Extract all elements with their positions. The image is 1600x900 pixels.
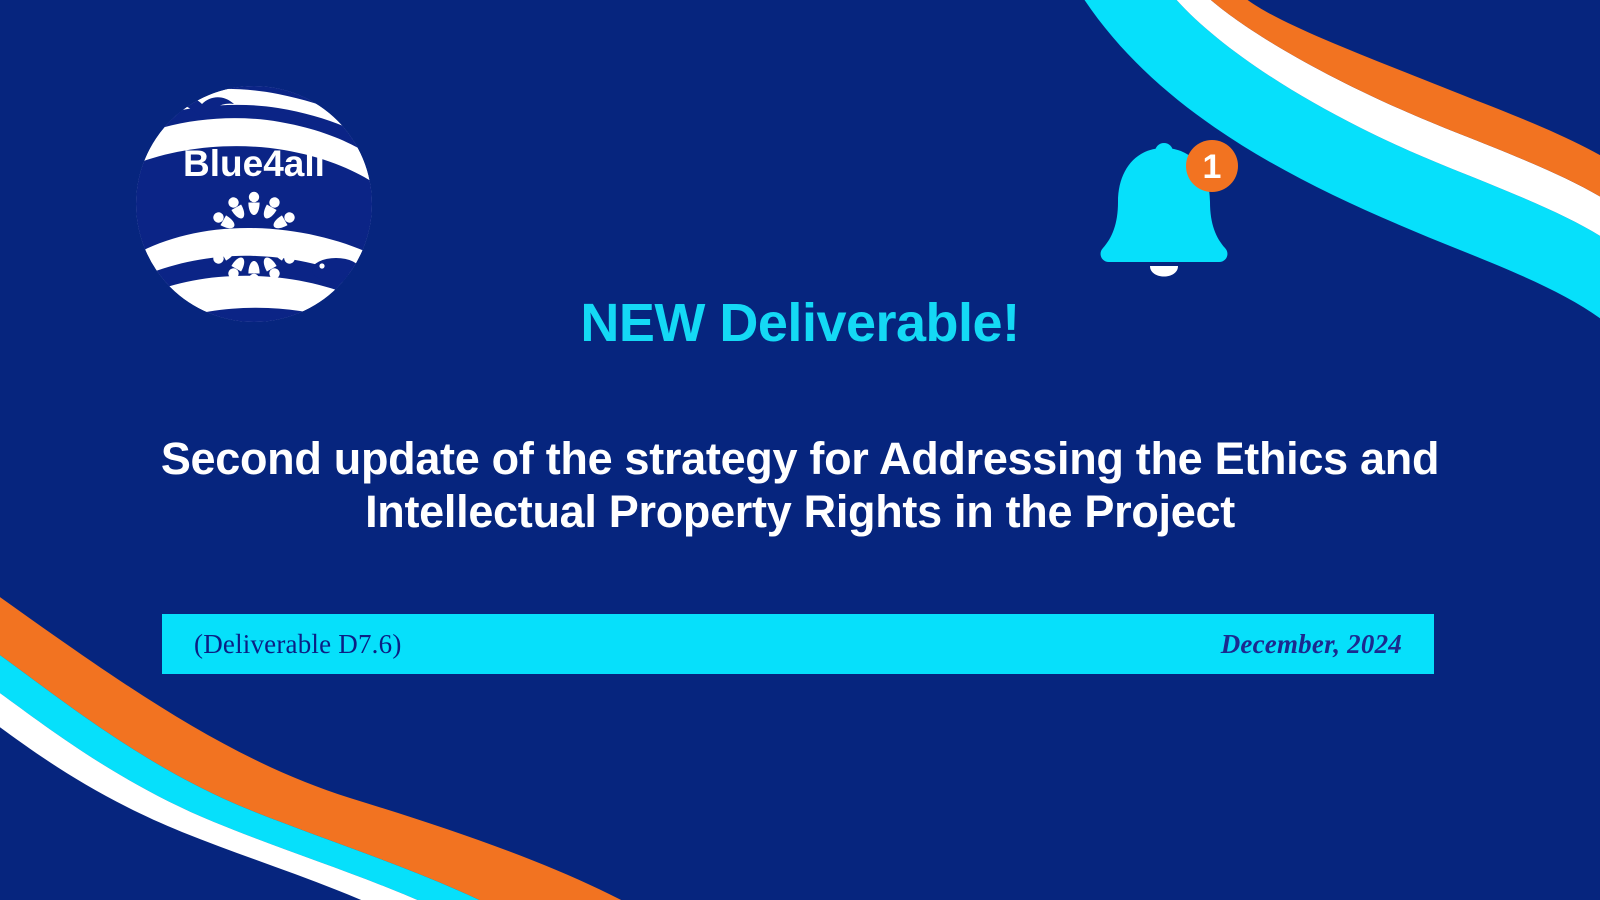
deliverable-code-label: (Deliverable D7.6) (194, 629, 402, 660)
notification-bell[interactable]: 1 (1092, 140, 1262, 285)
deliverable-date-label: December, 2024 (1221, 629, 1402, 660)
logo-wordmark: Blue4all (183, 143, 325, 184)
badge-count: 1 (1186, 140, 1238, 192)
blue4all-logo: Blue4all (128, 78, 380, 330)
announcement-eyebrow: NEW Deliverable! (0, 296, 1600, 350)
announcement-title: Second update of the strategy for Addres… (50, 432, 1550, 538)
announcement-banner: Blue4all (0, 0, 1600, 900)
badge-count-label: 1 (1203, 148, 1222, 186)
deliverable-info-bar: (Deliverable D7.6) December, 2024 (162, 614, 1434, 674)
